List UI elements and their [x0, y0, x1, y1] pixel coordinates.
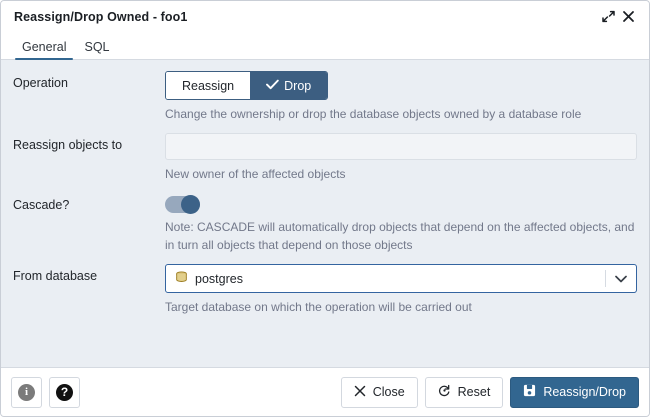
expand-diagonal-icon[interactable] [598, 7, 618, 27]
save-icon [523, 384, 536, 400]
tab-sql-label: SQL [84, 40, 109, 54]
dialog-window: Reassign/Drop Owned - foo1 General SQL O… [0, 0, 650, 417]
from-database-value: postgres [195, 272, 243, 286]
operation-option-drop-label: Drop [284, 79, 311, 93]
cascade-help-text: Note: CASCADE will automatically drop ob… [165, 218, 637, 254]
from-database-select[interactable]: postgres [165, 264, 637, 293]
cascade-toggle-knob [181, 195, 200, 214]
operation-toggle-group[interactable]: Reassign Drop [165, 71, 328, 100]
cascade-label: Cascade? [13, 193, 165, 212]
dialog-tabs: General SQL [1, 32, 649, 60]
help-icon: ? [56, 384, 73, 401]
operation-label: Operation [13, 71, 165, 90]
operation-option-reassign-label: Reassign [182, 79, 234, 93]
close-button-label: Close [373, 385, 405, 399]
info-icon: i [18, 384, 35, 401]
reassign-objects-to-help-text: New owner of the affected objects [165, 165, 637, 183]
operation-help-text: Change the ownership or drop the databas… [165, 105, 637, 123]
reset-button[interactable]: Reset [425, 377, 504, 408]
dialog-footer: i ? Close Reset [1, 367, 649, 416]
tab-sql[interactable]: SQL [75, 40, 118, 59]
cascade-toggle[interactable] [165, 196, 200, 213]
from-database-label: From database [13, 264, 165, 283]
field-from-database: From database postgres [13, 264, 637, 326]
field-reassign-objects-to: Reassign objects to New owner of the aff… [13, 133, 637, 193]
reassign-objects-to-input[interactable] [165, 133, 637, 160]
submit-button[interactable]: Reassign/Drop [510, 377, 639, 408]
help-button[interactable]: ? [49, 377, 80, 408]
close-icon[interactable] [618, 7, 638, 27]
check-icon [266, 79, 279, 93]
operation-option-drop[interactable]: Drop [250, 72, 327, 99]
close-x-icon [354, 385, 366, 400]
dialog-body: Operation Reassign Drop [1, 60, 649, 367]
tab-general[interactable]: General [13, 40, 75, 59]
from-database-help-text: Target database on which the operation w… [165, 298, 637, 316]
field-cascade: Cascade? Note: CASCADE will automaticall… [13, 193, 637, 264]
reset-icon [438, 384, 451, 400]
submit-button-label: Reassign/Drop [543, 385, 626, 399]
reassign-objects-to-label: Reassign objects to [13, 133, 165, 152]
close-button[interactable]: Close [341, 377, 418, 408]
operation-option-reassign[interactable]: Reassign [166, 72, 250, 99]
info-button[interactable]: i [11, 377, 42, 408]
dialog-titlebar: Reassign/Drop Owned - foo1 [1, 1, 649, 32]
chevron-down-icon[interactable] [606, 275, 636, 283]
database-icon [175, 271, 188, 287]
reset-button-label: Reset [458, 385, 491, 399]
dialog-title: Reassign/Drop Owned - foo1 [14, 10, 598, 24]
field-operation: Operation Reassign Drop [13, 71, 637, 133]
tab-general-label: General [22, 40, 66, 54]
